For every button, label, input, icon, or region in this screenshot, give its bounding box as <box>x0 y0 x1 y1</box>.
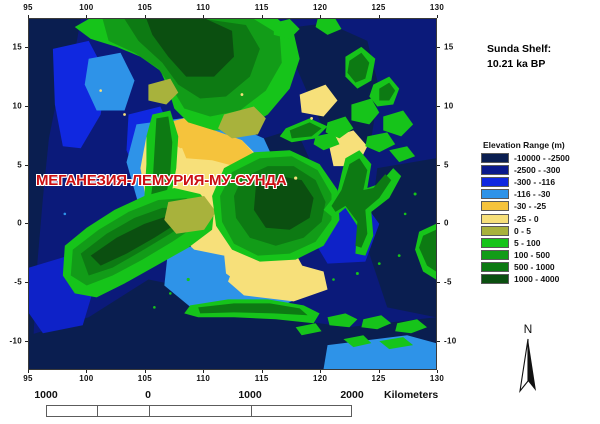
legend-item[interactable]: -300 - -116 <box>481 176 599 188</box>
legend-item[interactable]: -2500 - -300 <box>481 164 599 176</box>
legend-item-label: 5 - 100 <box>514 238 540 248</box>
legend-item-label: 1000 - 4000 <box>514 274 559 284</box>
x-axis-tick-label-top: 125 <box>371 3 385 12</box>
legend-item[interactable]: 1000 - 4000 <box>481 273 599 285</box>
scale-bar-label: 1000 <box>34 389 57 401</box>
y-axis-tick-right <box>437 106 440 107</box>
x-axis-tick-bottom <box>262 370 263 373</box>
legend-swatch <box>481 274 509 284</box>
map-frame[interactable] <box>28 18 437 370</box>
legend-item[interactable]: 100 - 500 <box>481 249 599 261</box>
legend-items: -10000 - -2500-2500 - -300-300 - -116-11… <box>481 152 599 285</box>
north-arrow-icon: N <box>508 322 548 400</box>
x-axis-tick-label-bottom: 110 <box>196 374 210 383</box>
y-axis-tick-right <box>437 165 440 166</box>
legend-item[interactable]: 500 - 1000 <box>481 261 599 273</box>
x-axis-tick-label-top: 110 <box>196 3 210 12</box>
north-arrow-glyph <box>514 337 542 393</box>
map-raster <box>29 19 436 369</box>
x-axis-tick-label-bottom: 105 <box>138 374 152 383</box>
legend-item-label: -116 - -30 <box>514 189 550 199</box>
x-axis-tick-label-bottom: 95 <box>23 374 33 383</box>
legend-item-label: -30 - -25 <box>514 201 546 211</box>
x-axis-tick-label-top: 115 <box>255 3 269 12</box>
y-axis-tick-right <box>437 223 440 224</box>
y-axis-tick-label-right: 10 <box>444 102 454 111</box>
x-axis-tick-bottom <box>203 370 204 373</box>
x-axis-tick-label-top: 120 <box>313 3 327 12</box>
x-axis-tick-label-top: 95 <box>23 3 33 12</box>
scale-bar-graphic <box>46 405 352 417</box>
x-axis-tick-bottom <box>145 370 146 373</box>
y-axis-tick-label-left: 0 <box>2 219 22 228</box>
x-axis-tick-label-bottom: 115 <box>255 374 269 383</box>
x-axis-tick-label-bottom: 130 <box>430 374 444 383</box>
legend-item-label: -300 - -116 <box>514 177 555 187</box>
legend-swatch <box>481 250 509 260</box>
x-axis-tick-bottom <box>320 370 321 373</box>
legend-item[interactable]: -25 - 0 <box>481 212 599 224</box>
scale-bar-units: Kilometers <box>384 389 438 401</box>
legend-swatch <box>481 177 509 187</box>
elevation-legend: Elevation Range (m) -10000 - -2500-2500 … <box>481 140 599 285</box>
x-axis-tick-label-top: 100 <box>79 3 93 12</box>
y-axis-tick-label-left: 10 <box>2 102 22 111</box>
legend-item-label: 0 - 5 <box>514 226 531 236</box>
map-title-line2: 10.21 ka BP <box>487 57 597 72</box>
legend-swatch <box>481 189 509 199</box>
y-axis-tick-label-left: -5 <box>2 278 22 287</box>
legend-item[interactable]: -30 - -25 <box>481 200 599 212</box>
x-axis-tick-bottom <box>86 370 87 373</box>
scale-bar-label: 0 <box>145 389 151 401</box>
legend-swatch <box>481 238 509 248</box>
legend-swatch <box>481 165 509 175</box>
y-axis-tick-right <box>437 341 440 342</box>
legend-item[interactable]: -116 - -30 <box>481 188 599 200</box>
map-page: 95100105110115120125130 9510010511011512… <box>0 0 600 424</box>
x-axis-tick-bottom <box>28 370 29 373</box>
x-axis-tick-label-bottom: 120 <box>313 374 327 383</box>
legend-item-label: -2500 - -300 <box>514 165 560 175</box>
legend-swatch <box>481 153 509 163</box>
legend-swatch <box>481 201 509 211</box>
x-axis-tick-bottom <box>379 370 380 373</box>
scale-bar: 1000010002000 Kilometers <box>32 389 372 421</box>
north-arrow-label: N <box>508 322 548 336</box>
legend-item-label: -10000 - -2500 <box>514 153 570 163</box>
legend-item[interactable]: 0 - 5 <box>481 225 599 237</box>
map-title: Sunda Shelf: 10.21 ka BP <box>487 42 597 72</box>
x-axis-tick-label-bottom: 100 <box>79 374 93 383</box>
x-axis-tick-label-bottom: 125 <box>371 374 385 383</box>
y-axis-tick-label-left: 15 <box>2 43 22 52</box>
map-title-line1: Sunda Shelf: <box>487 42 597 57</box>
x-axis-tick-label-top: 130 <box>430 3 444 12</box>
y-axis-tick-right <box>437 47 440 48</box>
legend-title: Elevation Range (m) <box>483 140 599 150</box>
y-axis-tick-label-right: -5 <box>444 278 452 287</box>
legend-item[interactable]: 5 - 100 <box>481 237 599 249</box>
legend-item-label: -25 - 0 <box>514 214 539 224</box>
y-axis-tick-label-right: 5 <box>444 160 449 169</box>
legend-swatch <box>481 226 509 236</box>
y-axis-tick-label-right: 15 <box>444 43 454 52</box>
scale-bar-labels: 1000010002000 <box>32 389 372 403</box>
y-axis-tick-label-right: -10 <box>444 336 456 345</box>
legend-item[interactable]: -10000 - -2500 <box>481 152 599 164</box>
scale-bar-label: 1000 <box>238 389 261 401</box>
x-axis-tick-label-top: 105 <box>138 3 152 12</box>
legend-item-label: 500 - 1000 <box>514 262 555 272</box>
x-axis-tick-top <box>437 15 438 18</box>
y-axis-tick-label-left: -10 <box>2 336 22 345</box>
legend-swatch <box>481 214 509 224</box>
legend-item-label: 100 - 500 <box>514 250 550 260</box>
scale-bar-label: 2000 <box>340 389 363 401</box>
y-axis-tick-label-left: 5 <box>2 160 22 169</box>
x-axis-tick-bottom <box>437 370 438 373</box>
legend-swatch <box>481 262 509 272</box>
y-axis-tick-right <box>437 282 440 283</box>
y-axis-tick-label-right: 0 <box>444 219 449 228</box>
